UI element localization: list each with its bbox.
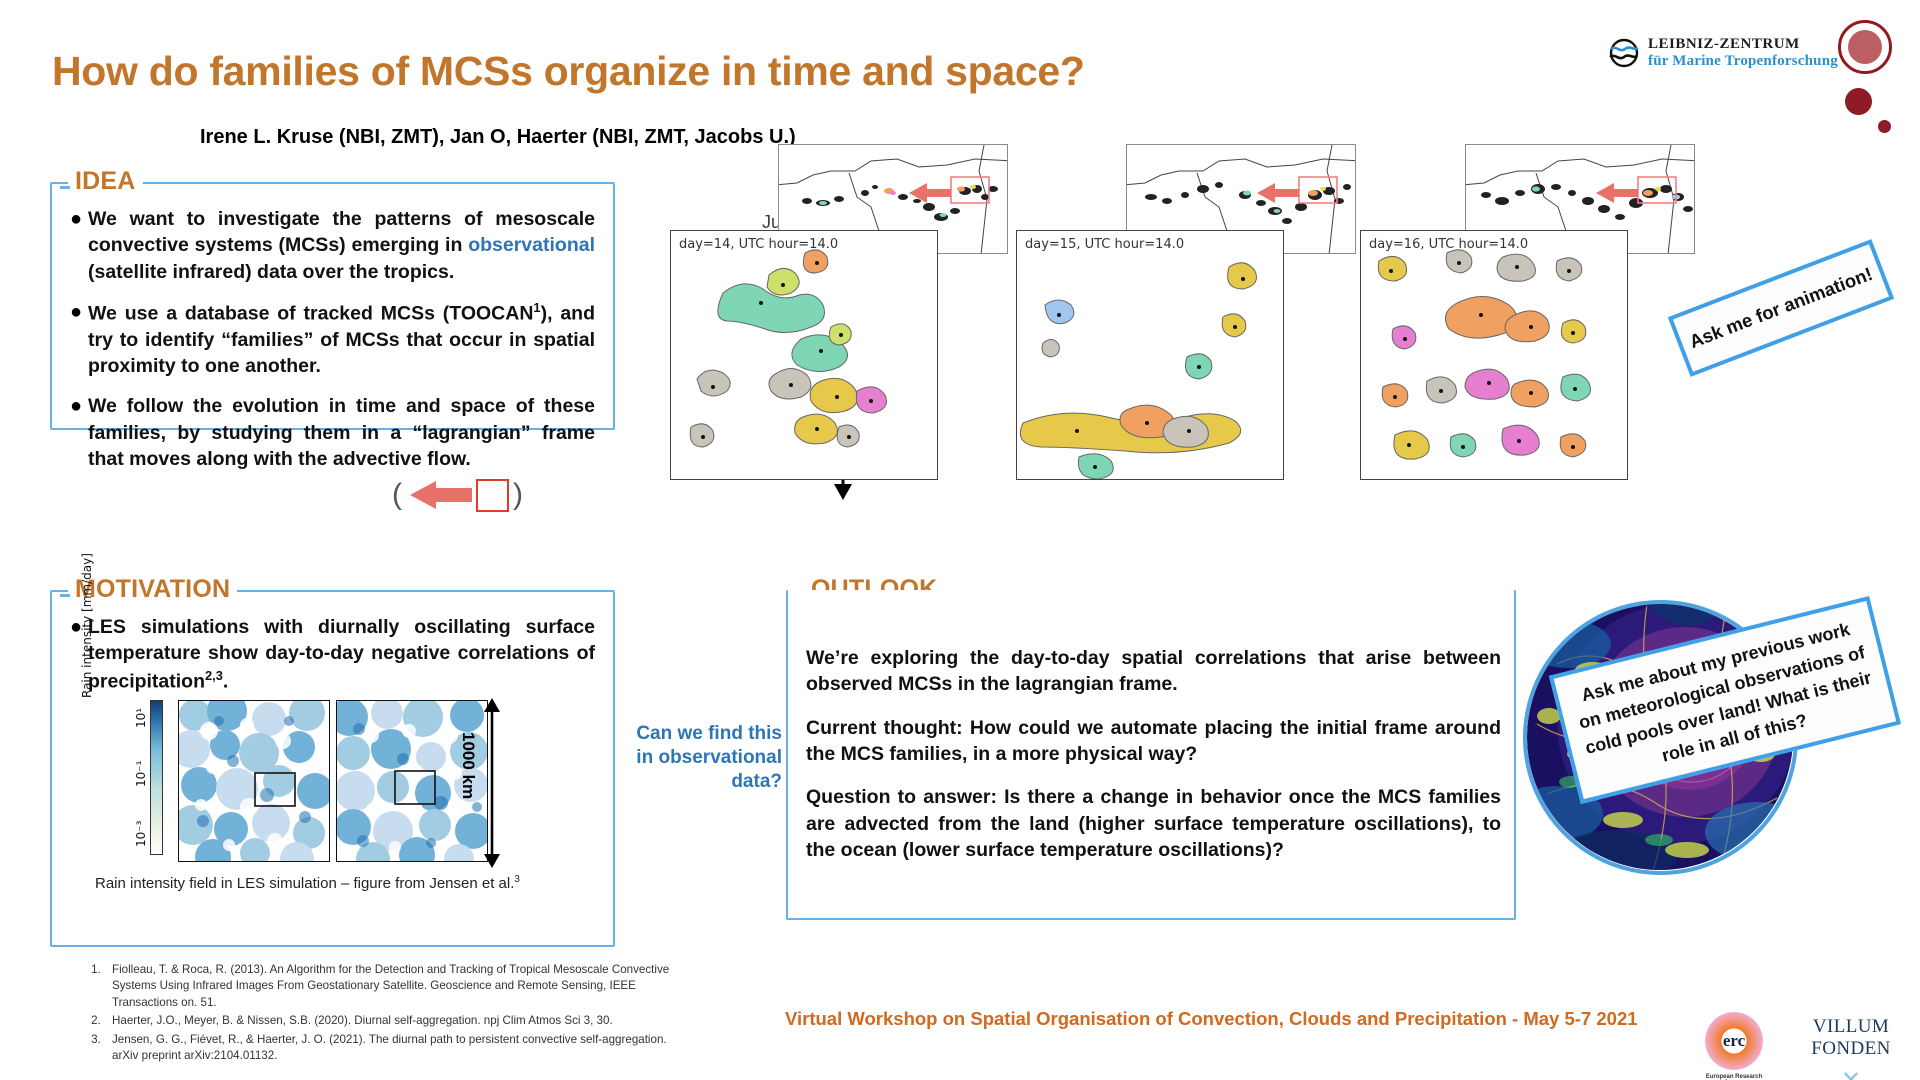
les-rain-field-5th	[179, 701, 330, 862]
idea-section: IDEA ● We want to investigate the patter…	[50, 182, 615, 430]
decorative-dot-small	[1878, 120, 1891, 133]
mcs-panel-day14-tag: day=14, UTC hour=14.0	[679, 237, 838, 252]
decorative-dot-large	[1845, 88, 1872, 115]
erc-circle-icon: erc	[1705, 1012, 1763, 1070]
mcs-map-triptych: July 14-16, 2016 1000 km	[760, 150, 1920, 570]
motivation-bullet-footnote-marker: 2,3	[205, 668, 223, 683]
idea-bullet-3-text: We follow the evolution in time and spac…	[88, 393, 595, 472]
bullet-dot-icon: ●	[70, 206, 88, 285]
les-figure-caption-footnote-marker: 3	[514, 874, 520, 885]
motivation-bullet-1: ● LES simulations with diurnally oscilla…	[70, 614, 595, 694]
les-colorbar-tick-2: 10⁻³	[134, 821, 148, 847]
idea-bullet-1-highlight: observational	[468, 234, 595, 256]
outlook-paragraph-3: Question to answer: Is there a change in…	[806, 784, 1501, 863]
mcs-cluster-plot-day15	[1017, 231, 1284, 480]
mcs-panel-day14: day=14, UTC hour=14.0	[670, 230, 938, 480]
les-panel-5th-day: 5th day	[178, 700, 330, 862]
reference-item: Fiolleau, T. & Roca, R. (2013). An Algor…	[104, 962, 690, 1011]
les-figure-caption-text: Rain intensity field in LES simulation –…	[95, 875, 514, 892]
lagrangian-frame-glyph: ( )	[392, 478, 523, 512]
les-colorbar-axis-label: Rain intensity [mm/day]	[80, 553, 94, 698]
les-rain-intensity-figure: Rain intensity [mm/day] 10¹ 10⁻¹ 10⁻³ 5t…	[88, 690, 508, 875]
erc-subtitle-1: European Research Counc.	[1695, 1074, 1773, 1080]
outlook-paragraph-2: Current thought: How could we automate p…	[806, 715, 1501, 768]
leibniz-logo-line2: für Marine Tropenforschung	[1648, 53, 1838, 70]
leibniz-zmt-logo: LEIBNIZ-ZENTRUM für Marine Tropenforschu…	[1608, 36, 1838, 71]
motivation-bullet-pre: LES simulations with diurnally oscillati…	[88, 616, 595, 692]
reference-item: Jensen, G. G., Fiévet, R., & Haerter, J.…	[104, 1032, 690, 1065]
erc-logo: erc European Research Counc. Established…	[1695, 1012, 1773, 1080]
mcs-cluster-plot-day16	[1361, 231, 1628, 480]
les-colorbar	[150, 700, 163, 855]
advection-arrow-icon	[406, 478, 472, 512]
les-scale-label: 1000 km	[458, 732, 478, 799]
erc-wordmark: erc	[1705, 1031, 1763, 1051]
mcs-cluster-plot-day14	[671, 231, 938, 480]
idea-section-label: IDEA	[68, 167, 143, 196]
idea-bullet-3: ● We follow the evolution in time and sp…	[70, 393, 595, 472]
idea-bullet-2-pre: We use a database of tracked MCSs (TOOCA…	[88, 302, 533, 324]
idea-bullet-2: ● We use a database of tracked MCSs (TOO…	[70, 299, 595, 379]
leibniz-logo-line1: LEIBNIZ-ZENTRUM	[1648, 36, 1838, 53]
motivation-bullet-list: ● LES simulations with diurnally oscilla…	[52, 592, 613, 694]
idea-bullet-1-post: (satellite infrared) data over the tropi…	[88, 261, 454, 283]
page-title: How do families of MCSs organize in time…	[52, 48, 1252, 95]
les-scale-arrow-icon	[480, 698, 504, 868]
bullet-dot-icon: ●	[70, 393, 88, 472]
les-figure-caption: Rain intensity field in LES simulation –…	[95, 874, 520, 892]
mcs-panel-day16-tag: day=16, UTC hour=14.0	[1369, 237, 1528, 252]
villum-fonden-mark-icon: ✕	[1782, 1066, 1920, 1080]
les-colorbar-tick-0: 10¹	[134, 708, 148, 728]
observational-data-callout: Can we find this in observational data?	[632, 722, 782, 793]
glyph-close-paren: )	[513, 478, 523, 512]
reference-item: Haerter, J.O., Meyer, B. & Nissen, S.B. …	[104, 1013, 690, 1029]
university-seal-icon	[1838, 20, 1892, 74]
references-list: Fiolleau, T. & Roca, R. (2013). An Algor…	[70, 962, 690, 1067]
outlook-paragraph-1: We’re exploring the day-to-day spatial c…	[806, 645, 1501, 698]
idea-bullet-2-footnote-marker: 1	[533, 300, 540, 315]
mcs-panel-day15-tag: day=15, UTC hour=14.0	[1025, 237, 1184, 252]
les-colorbar-tick-1: 10⁻¹	[134, 761, 148, 787]
glyph-open-paren: (	[392, 478, 402, 512]
outlook-body: We’re exploring the day-to-day spatial c…	[806, 645, 1501, 880]
footer-workshop-banner: Virtual Workshop on Spatial Organisation…	[785, 1008, 1638, 1030]
mcs-panel-day16: day=16, UTC hour=14.0	[1360, 230, 1628, 480]
idea-bullet-list: ● We want to investigate the patterns of…	[52, 184, 613, 472]
bullet-dot-icon: ●	[70, 299, 88, 379]
idea-bullet-1: ● We want to investigate the patterns of…	[70, 206, 595, 285]
leibniz-wave-icon	[1608, 38, 1640, 68]
mcs-panel-day15: day=15, UTC hour=14.0	[1016, 230, 1284, 480]
villum-fonden-logo: VILLUM FONDEN ✕	[1782, 1016, 1920, 1080]
motivation-bullet-post: .	[223, 670, 228, 692]
lagrangian-frame-box-icon	[476, 479, 509, 512]
villum-fonden-wordmark: VILLUM FONDEN	[1782, 1016, 1920, 1060]
